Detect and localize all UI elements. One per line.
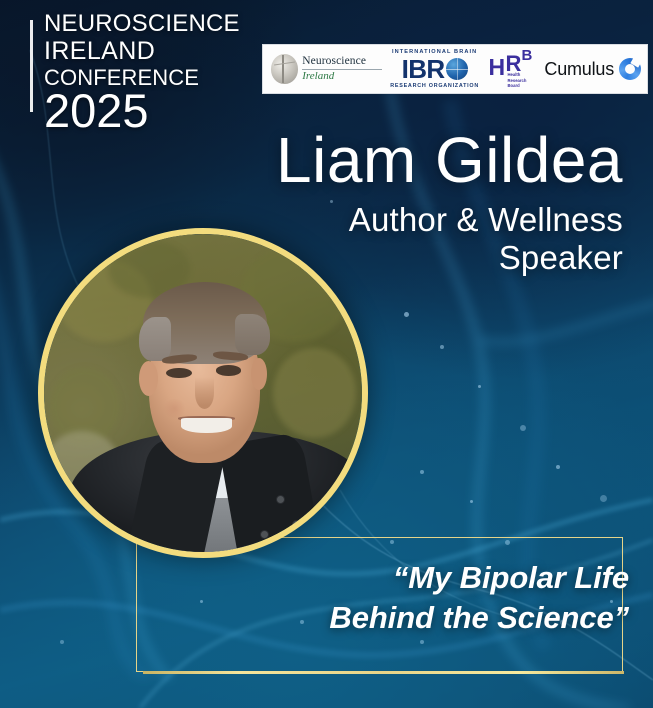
- title-accent-bar: [30, 20, 33, 112]
- cumulus-swirl-icon: [619, 58, 641, 80]
- ni-logo-line2: Ireland: [302, 71, 382, 82]
- bokeh-dot: [404, 312, 409, 317]
- sponsor-logo-strip: Neuroscience Ireland INTERNATIONAL BRAIN…: [262, 44, 648, 94]
- ibro-logo-bottom-text: RESEARCH ORGANIZATION: [390, 83, 479, 89]
- globe-icon: [446, 58, 468, 80]
- portrait-jacket-button: [276, 495, 285, 504]
- portrait-hair-side-right: [235, 314, 270, 355]
- portrait-jacket-button: [260, 530, 269, 539]
- speaker-announcement-poster: NEUROSCIENCE IRELAND CONFERENCE 2025 Neu…: [0, 0, 653, 708]
- portrait-eye-right: [216, 365, 241, 375]
- sponsor-logo-neuroscience-ireland: Neuroscience Ireland: [269, 45, 385, 93]
- speaker-name: Liam Gildea: [103, 128, 623, 192]
- talk-quote-line2: Behind the Science”: [209, 598, 629, 638]
- cumulus-wordmark: Cumulus: [544, 59, 614, 80]
- speaker-portrait: [38, 228, 368, 558]
- conference-title-line1: NEUROSCIENCE: [44, 12, 259, 36]
- portrait-nose: [195, 377, 214, 409]
- ni-logo-line1: Neuroscience: [302, 56, 382, 68]
- bokeh-dot: [478, 385, 481, 388]
- portrait-ear-right: [251, 358, 267, 390]
- sponsor-logo-ibro: INTERNATIONAL BRAIN IBR RESEARCH ORGANIZ…: [385, 45, 485, 93]
- conference-title-line2: IRELAND: [44, 39, 259, 64]
- portrait-photo: [44, 234, 362, 552]
- bokeh-dot: [470, 500, 473, 503]
- bokeh-dot: [440, 345, 444, 349]
- bokeh-dot: [600, 495, 607, 502]
- hrb-letter-b: B: [522, 48, 533, 63]
- hrb-subtitle: Health Research Board: [508, 72, 538, 89]
- bokeh-dot: [60, 640, 64, 644]
- brain-emblem-icon: [271, 54, 298, 84]
- ibro-logo-wordmark: IBR: [402, 56, 445, 82]
- portrait-eye-left: [166, 368, 191, 378]
- talk-quote: “My Bipolar Life Behind the Science”: [209, 558, 629, 637]
- bokeh-dot: [556, 465, 560, 469]
- hrb-letter-h: H: [489, 56, 506, 79]
- conference-year: 2025: [44, 87, 259, 134]
- bokeh-dot: [520, 425, 526, 431]
- talk-quote-line1: “My Bipolar Life: [209, 558, 629, 598]
- portrait-smile: [181, 418, 232, 432]
- sponsor-logo-hrb: H R B Health Research Board: [485, 42, 545, 96]
- sponsor-logo-cumulus: Cumulus: [544, 45, 641, 93]
- conference-title: NEUROSCIENCE IRELAND CONFERENCE 2025: [44, 12, 259, 134]
- portrait-hair-side-left: [139, 317, 171, 362]
- bokeh-dot: [420, 470, 424, 474]
